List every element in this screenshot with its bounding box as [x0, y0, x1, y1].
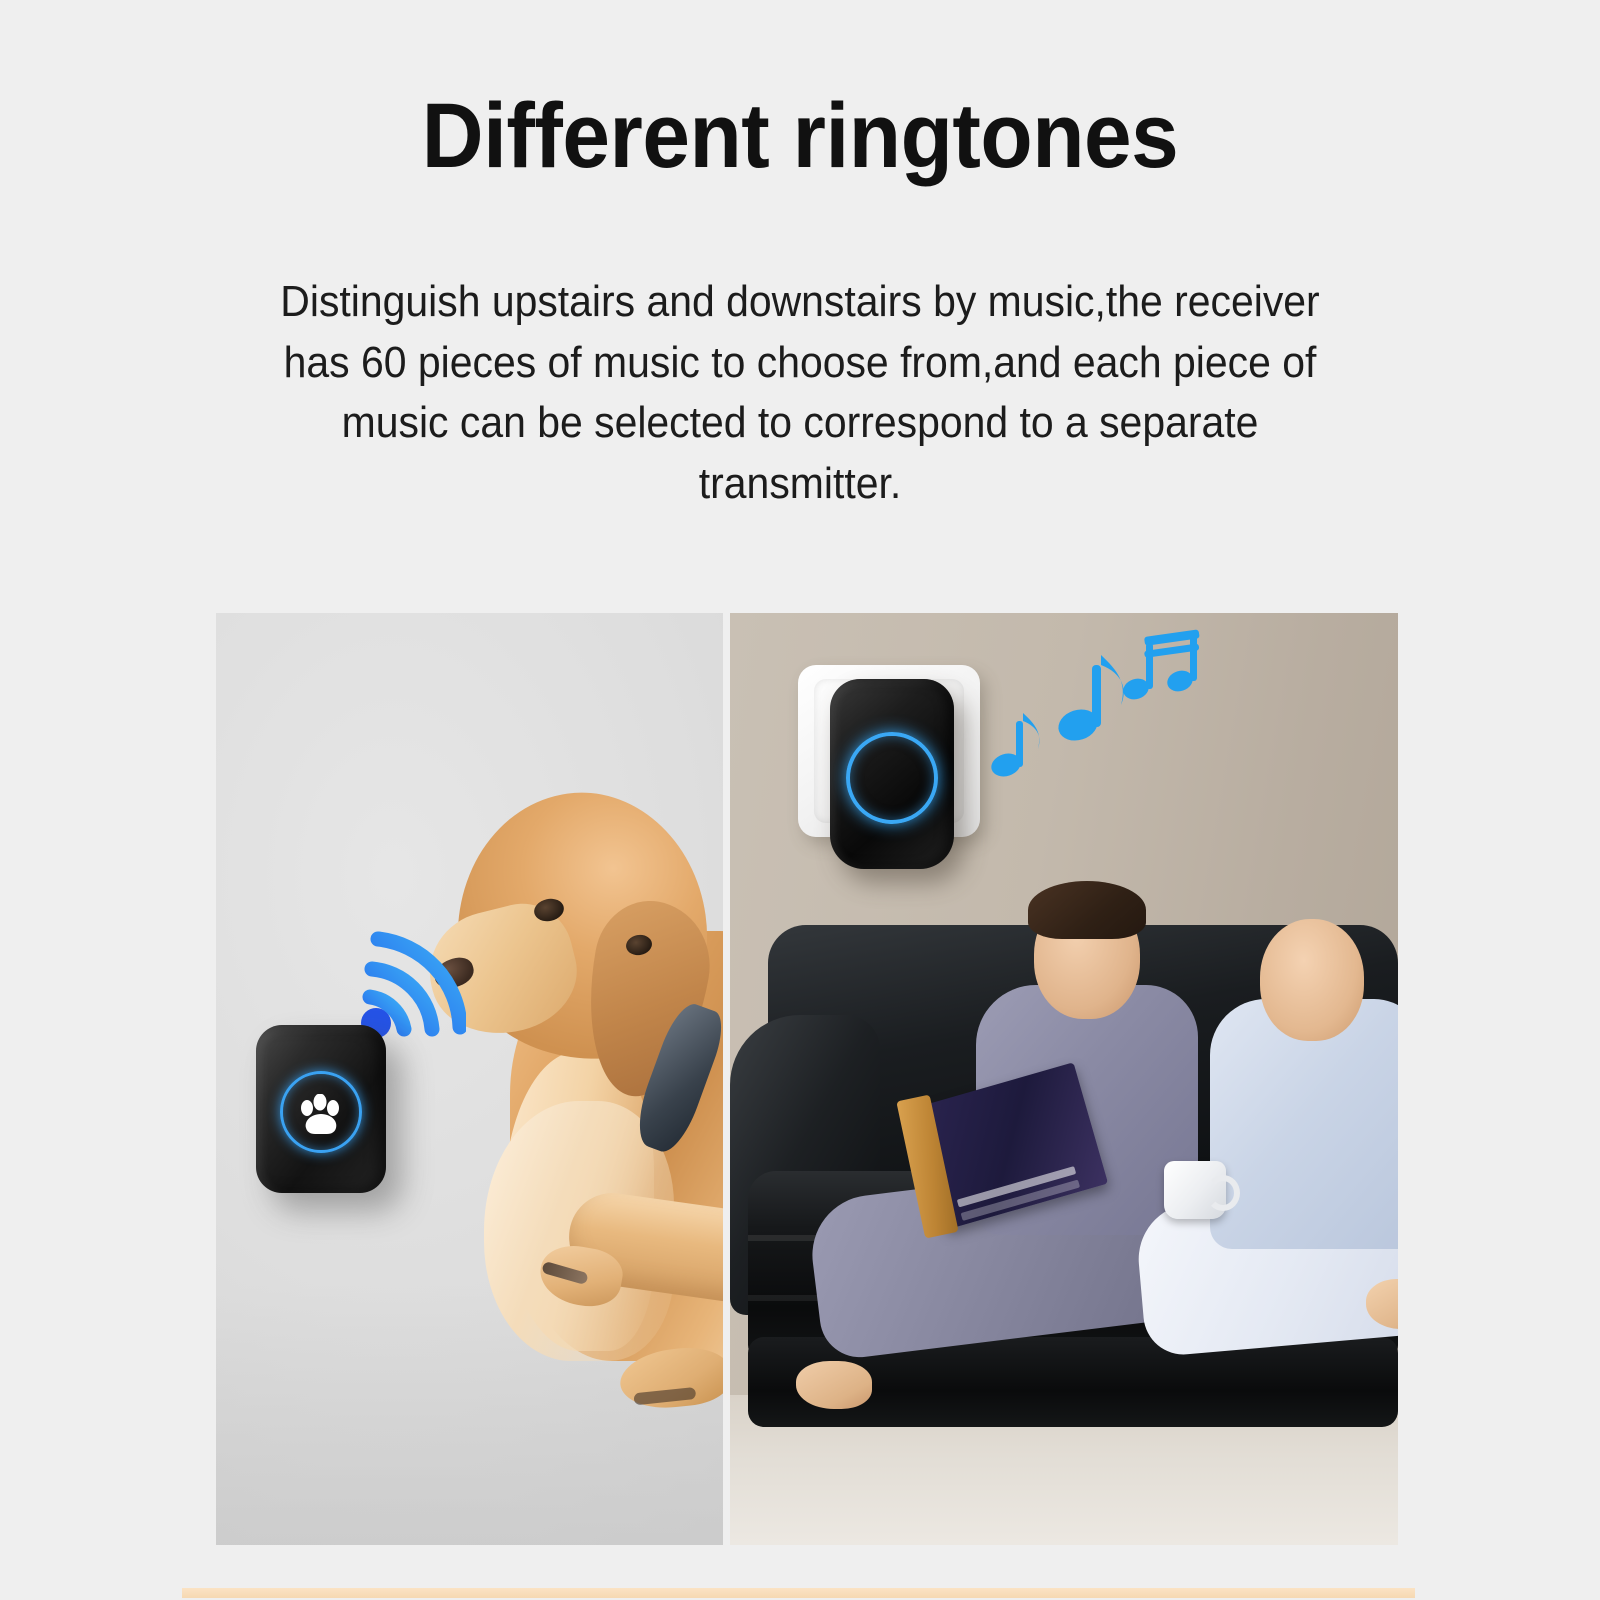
product-feature-page: Different ringtones Distinguish upstairs… [0, 0, 1600, 1600]
man-hair [1028, 881, 1146, 939]
image-gallery [0, 613, 1600, 1547]
page-description: Distinguish upstairs and downstairs by m… [279, 272, 1321, 515]
person-woman [1200, 917, 1398, 1337]
paw-print-icon [298, 1094, 344, 1138]
page-title: Different ringtones [56, 88, 1544, 185]
doorbell-receiver[interactable] [830, 679, 954, 869]
receiver-led-ring [846, 732, 938, 824]
doorbell-transmitter[interactable] [256, 1025, 386, 1193]
gallery-panel-right [730, 613, 1398, 1545]
woman-head [1260, 919, 1364, 1041]
dog-photo [438, 781, 723, 1381]
bottom-divider [182, 1588, 1415, 1598]
man-foot [796, 1361, 872, 1409]
wifi-signal-icon [356, 923, 466, 1041]
music-notes-icon [980, 625, 1200, 805]
gallery-panel-left [216, 613, 723, 1545]
coffee-mug [1164, 1161, 1226, 1219]
